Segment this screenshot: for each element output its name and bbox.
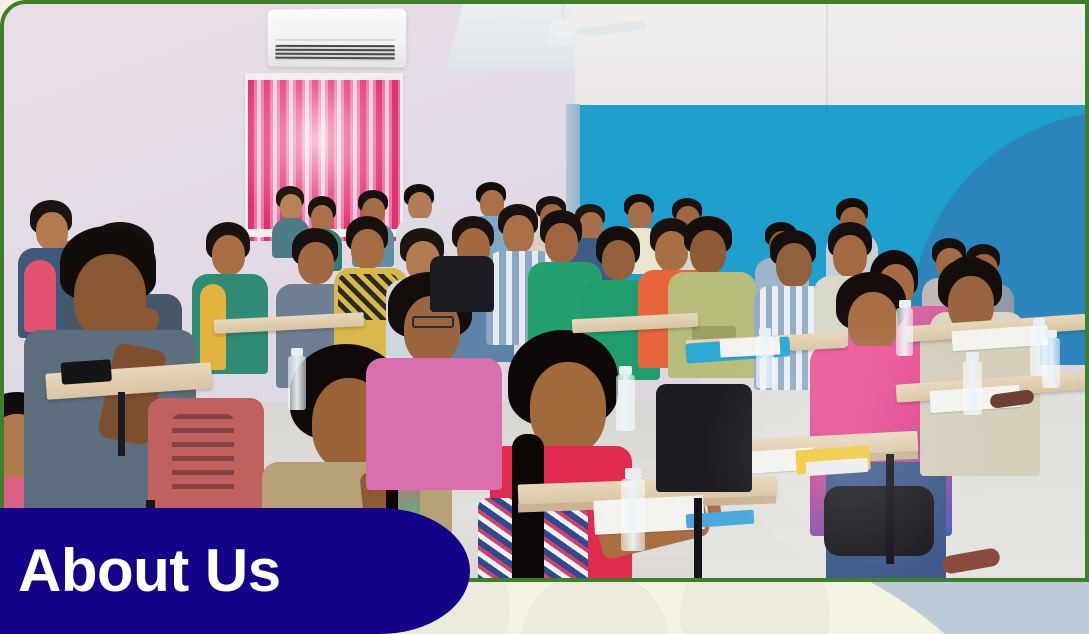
hero-photo: [0, 0, 1089, 582]
head: [545, 223, 578, 263]
eyeglasses: [412, 316, 454, 328]
chair-slots: [172, 414, 234, 498]
bottle-cap: [1045, 330, 1057, 338]
head: [690, 230, 726, 274]
about-us-hero-page: About Us: [0, 0, 1089, 634]
bottle-cap: [759, 328, 771, 336]
head: [212, 235, 245, 275]
bottle-cap: [619, 366, 632, 375]
torso: [366, 358, 502, 490]
bottle-cap: [966, 352, 979, 361]
chair-leg: [886, 454, 894, 564]
page-title: About Us: [18, 541, 281, 601]
bottle-cap: [1033, 318, 1045, 326]
head: [848, 292, 898, 352]
bottle-body: [616, 375, 635, 431]
bottle-body: [963, 361, 982, 415]
head: [408, 192, 432, 220]
plastic-chair-red: [148, 398, 264, 518]
air-conditioner-vent: [275, 45, 394, 62]
ceiling-fan-hub: [549, 20, 577, 38]
head: [74, 254, 146, 340]
air-conditioner-unit: [268, 8, 407, 67]
head: [503, 215, 534, 253]
mobile-phone: [61, 359, 112, 384]
desk-leg: [118, 392, 125, 456]
head: [776, 243, 812, 287]
bottle-cap: [899, 300, 911, 308]
bottle-body: [288, 356, 306, 410]
bottle-cap: [625, 468, 641, 479]
chair-leg: [694, 498, 702, 578]
wall-seam: [826, 0, 828, 112]
head: [628, 202, 652, 230]
bottle-body: [621, 479, 645, 551]
bottle-body: [756, 336, 774, 388]
bottle-cap: [291, 348, 303, 356]
about-us-badge: About Us: [0, 508, 470, 634]
plastic-chair-2: [430, 256, 494, 312]
head: [833, 235, 867, 277]
head: [280, 194, 302, 220]
head: [351, 229, 384, 269]
plastic-chair-1: [656, 384, 752, 492]
head: [298, 242, 334, 284]
right-wall-upper: [575, 0, 1089, 118]
scarf: [24, 260, 56, 332]
bottle-body: [896, 308, 913, 356]
bottle-body: [1042, 338, 1060, 388]
head: [602, 240, 635, 280]
air-conditioner-seam: [275, 39, 394, 41]
plastic-chair-3: [824, 486, 934, 556]
classroom-photo-content: [0, 0, 1089, 582]
